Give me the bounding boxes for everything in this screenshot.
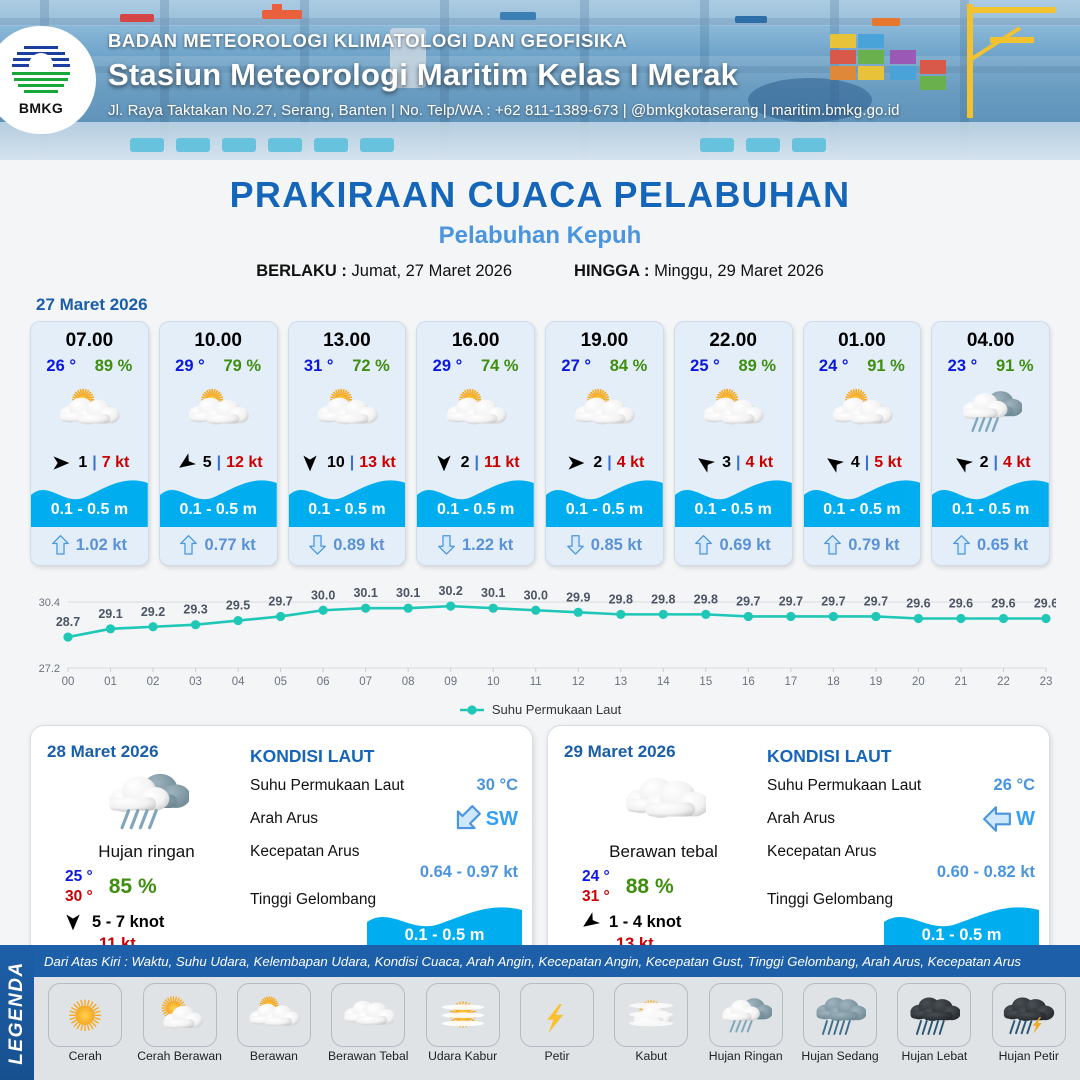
chart-x-tick: 12 — [572, 676, 585, 688]
daily-temps: 24 °31 °88 % — [582, 868, 763, 906]
daily-wind-range: 5 - 7 knot — [92, 913, 164, 932]
card-wind-degree: 1 — [78, 454, 87, 472]
card-wind-speed: 4 kt — [746, 454, 774, 472]
chart-data-point — [829, 612, 838, 621]
chart-data-label: 29.6 — [906, 597, 930, 611]
weather-icon-cerah-berawan — [154, 994, 206, 1037]
infographic-page: BMKG BADAN METEOROLOGI KLIMATOLOGI DAN G… — [0, 0, 1080, 1080]
chart-y-tick: 27.2 — [39, 663, 60, 675]
chart-data-point — [63, 632, 72, 641]
card-time: 07.00 — [31, 330, 148, 352]
card-current: 0.77 kt — [160, 529, 277, 561]
weather-icon-hujan-ringan — [105, 767, 189, 836]
chart-line — [68, 606, 1046, 637]
legend-side-tab: LEGENDA — [0, 945, 34, 1080]
station-name: Stasiun Meteorologi Maritim Kelas I Mera… — [108, 57, 900, 93]
daily-wave-height: 0.1 - 0.5 m — [884, 926, 1039, 945]
legend-item-label: Hujan Ringan — [709, 1050, 783, 1063]
card-time: 16.00 — [417, 330, 534, 352]
current-direction-value: W — [1016, 808, 1035, 831]
chart-x-tick: 18 — [827, 676, 840, 688]
legend-item: Berawan — [229, 983, 319, 1080]
daily-condition: Berawan tebal — [564, 842, 763, 862]
chart-x-tick: 02 — [147, 676, 160, 688]
card-wind-separator: | — [217, 454, 221, 472]
chart-x-tick: 07 — [359, 676, 372, 688]
card-wave: 0.1 - 0.5 m — [546, 473, 663, 527]
card-wind-separator: | — [865, 454, 869, 472]
card-wind-separator: | — [736, 454, 740, 472]
card-wind-speed: 13 kt — [359, 454, 395, 472]
hourly-card: 19.0027 °84 %2|4 kt0.1 - 0.5 m0.85 kt — [545, 321, 664, 566]
current-direction-arrow-icon — [180, 535, 197, 555]
card-wind-separator: | — [475, 454, 479, 472]
legend-item-label: Hujan Sedang — [801, 1050, 878, 1063]
chart-data-label: 29.1 — [98, 607, 122, 621]
chart-data-label: 28.7 — [56, 615, 80, 629]
valid-from: BERLAKU : Jumat, 27 Maret 2026 — [256, 262, 512, 281]
wind-direction-arrow-icon — [822, 453, 846, 473]
chart-data-label: 29.7 — [779, 594, 803, 608]
daily-forecast-panel: 28 Maret 2026Hujan ringan25 °30 °85 %5 -… — [30, 725, 533, 967]
legend-bar: LEGENDA Dari Atas Kiri : Waktu, Suhu Uda… — [0, 945, 1080, 1080]
legend-item: Hujan Lebat — [889, 983, 979, 1080]
legend-icon-box — [897, 983, 971, 1047]
chart-data-point — [404, 604, 413, 613]
valid-to: HINGGA : Minggu, 29 Maret 2026 — [574, 262, 824, 281]
card-wind-speed: 7 kt — [102, 454, 130, 472]
hourly-card: 04.0023 °91 %2|4 kt0.1 - 0.5 m0.65 kt — [931, 321, 1050, 566]
card-humidity: 74 % — [481, 357, 519, 376]
chart-data-point — [616, 610, 625, 619]
current-direction-arrow-icon — [953, 535, 970, 555]
card-current-speed: 0.85 kt — [591, 536, 642, 555]
chart-data-point — [701, 610, 710, 619]
weather-icon-berawan — [248, 994, 300, 1037]
current-direction-arrow-icon — [982, 804, 1012, 834]
title-section: PRAKIRAAN CUACA PELABUHAN Pelabuhan Kepu… — [0, 160, 1080, 281]
chart-data-label: 30.1 — [481, 586, 505, 600]
chart-data-label: 29.6 — [991, 597, 1015, 611]
card-humidity: 79 % — [223, 357, 261, 376]
legend-icon-box — [520, 983, 594, 1047]
daily-humidity: 85 % — [109, 875, 157, 899]
card-time: 04.00 — [932, 330, 1049, 352]
card-values: 29 °74 % — [417, 357, 534, 376]
valid-from-value: Jumat, 27 Maret 2026 — [352, 262, 513, 280]
legend-item: Hujan Ringan — [701, 983, 791, 1080]
legend-icon-box — [237, 983, 311, 1047]
card-time: 13.00 — [289, 330, 406, 352]
current-direction-value-wrap: SW — [452, 804, 518, 834]
weather-icon-kabut — [625, 994, 677, 1037]
legend-item-label: Hujan Petir — [999, 1050, 1059, 1063]
daily-forecast-panel: 29 Maret 2026Berawan tebal24 °31 °88 %1 … — [547, 725, 1050, 967]
legend-item-label: Hujan Lebat — [902, 1050, 968, 1063]
chart-data-point — [574, 608, 583, 617]
card-wave-height: 0.1 - 0.5 m — [31, 501, 148, 519]
wind-direction-arrow-icon — [432, 453, 456, 473]
weather-icon-petir — [531, 994, 583, 1037]
current-speed-row: Kecepatan Arus — [246, 843, 518, 861]
chart-data-point — [106, 624, 115, 633]
chart-data-point — [914, 614, 923, 623]
card-values: 31 °72 % — [289, 357, 406, 376]
card-values: 29 °79 % — [160, 357, 277, 376]
chart-legend: Suhu Permukaan Laut — [0, 702, 1080, 717]
card-wave-height: 0.1 - 0.5 m — [932, 501, 1049, 519]
daily-forecast-panels: 28 Maret 2026Hujan ringan25 °30 °85 %5 -… — [0, 717, 1080, 967]
card-wind-degree: 2 — [593, 454, 602, 472]
hourly-card: 22.0025 °89 %3|4 kt0.1 - 0.5 m0.69 kt — [674, 321, 793, 566]
chart-data-point — [148, 622, 157, 631]
legend-icon-box — [331, 983, 405, 1047]
chart-data-point — [446, 602, 455, 611]
current-speed-row: Kecepatan Arus — [763, 843, 1035, 861]
chart-x-tick: 10 — [487, 676, 500, 688]
card-current-speed: 0.89 kt — [333, 536, 384, 555]
card-wave-height: 0.1 - 0.5 m — [804, 501, 921, 519]
current-direction-arrow-icon — [52, 535, 69, 555]
chart-x-tick: 20 — [912, 676, 925, 688]
card-current-speed: 0.69 kt — [719, 536, 770, 555]
hourly-card: 13.0031 °72 %10|13 kt0.1 - 0.5 m0.89 kt — [288, 321, 407, 566]
daily-panel-right: KONDISI LAUTSuhu Permukaan Laut30 °CArah… — [246, 726, 532, 966]
card-wave-height: 0.1 - 0.5 m — [289, 501, 406, 519]
wind-direction-arrow-icon — [174, 453, 198, 473]
chart-data-label: 29.3 — [183, 603, 207, 617]
current-direction-label: Arah Arus — [250, 810, 318, 828]
daily-wave-height: 0.1 - 0.5 m — [367, 926, 522, 945]
card-current-speed: 1.02 kt — [76, 536, 127, 555]
chart-data-point — [531, 606, 540, 615]
current-direction-row: Arah ArusSW — [246, 804, 518, 834]
current-direction-arrow-icon — [824, 535, 841, 555]
legend-item-label: Berawan — [250, 1050, 298, 1063]
legend-icon-box — [143, 983, 217, 1047]
daily-temps: 25 °30 °85 % — [65, 868, 246, 906]
chart-data-label: 29.9 — [566, 590, 590, 604]
chart-x-tick: 04 — [232, 676, 245, 688]
weather-icon-hujan-ringan — [960, 386, 1022, 437]
wind-direction-arrow-icon — [61, 912, 85, 932]
current-direction-arrow-icon — [567, 535, 584, 555]
legend-icon-box — [48, 983, 122, 1047]
bmkg-logo-mark — [12, 44, 70, 98]
wind-direction-arrow-icon — [49, 453, 73, 473]
hourly-card: 10.0029 °79 %5|12 kt0.1 - 0.5 m0.77 kt — [159, 321, 278, 566]
hourly-card: 16.0029 °74 %2|11 kt0.1 - 0.5 m1.22 kt — [416, 321, 535, 566]
sst-row: Suhu Permukaan Laut30 °C — [246, 776, 518, 795]
chart-data-label: 30.0 — [524, 588, 548, 602]
card-current: 0.79 kt — [804, 529, 921, 561]
wind-direction-arrow-icon — [693, 453, 717, 473]
card-time: 22.00 — [675, 330, 792, 352]
current-direction-arrow-icon — [695, 535, 712, 555]
weather-icon-berawan — [187, 386, 249, 437]
current-speed-label: Kecepatan Arus — [250, 843, 359, 861]
chart-data-point — [956, 614, 965, 623]
weather-icon-hujan-ringan — [720, 994, 772, 1037]
card-temperature: 29 ° — [433, 357, 463, 376]
card-current: 1.02 kt — [31, 529, 148, 561]
card-wave: 0.1 - 0.5 m — [417, 473, 534, 527]
chart-data-label: 29.7 — [864, 594, 888, 608]
agency-name: BADAN METEOROLOGI KLIMATOLOGI DAN GEOFIS… — [108, 30, 900, 52]
card-wind-separator: | — [994, 454, 998, 472]
chart-data-label: 30.1 — [396, 586, 420, 600]
hourly-date-label: 27 Maret 2026 — [36, 295, 1080, 315]
legend-item-label: Cerah Berawan — [137, 1050, 222, 1063]
card-wind-separator: | — [350, 454, 354, 472]
hourly-card: 07.0026 °89 %1|7 kt0.1 - 0.5 m1.02 kt — [30, 321, 149, 566]
card-weather-icon — [289, 380, 406, 442]
chart-x-tick: 16 — [742, 676, 755, 688]
chart-data-label: 29.7 — [268, 594, 292, 608]
chart-data-label: 29.8 — [609, 592, 633, 606]
legend-item-label: Petir — [544, 1050, 569, 1063]
sst-value: 26 °C — [994, 776, 1035, 795]
daily-humidity: 88 % — [626, 875, 674, 899]
legend-item: Cerah Berawan — [134, 983, 224, 1080]
chart-x-tick: 15 — [699, 676, 712, 688]
card-time: 01.00 — [804, 330, 921, 352]
card-values: 24 °91 % — [804, 357, 921, 376]
card-current-speed: 0.65 kt — [977, 536, 1028, 555]
card-humidity: 72 % — [352, 357, 390, 376]
card-temperature: 27 ° — [561, 357, 591, 376]
sst-label: Suhu Permukaan Laut — [767, 777, 921, 795]
daily-panel-left: 29 Maret 2026Berawan tebal24 °31 °88 %1 … — [548, 726, 763, 966]
weather-icon-berawan — [445, 386, 507, 437]
card-wave: 0.1 - 0.5 m — [31, 473, 148, 527]
card-time: 10.00 — [160, 330, 277, 352]
current-direction-arrow-icon — [438, 535, 455, 555]
card-wind-degree: 10 — [327, 454, 345, 472]
card-time: 19.00 — [546, 330, 663, 352]
card-current-speed: 0.79 kt — [848, 536, 899, 555]
card-wave-height: 0.1 - 0.5 m — [546, 501, 663, 519]
current-speed-value: 0.64 - 0.97 kt — [246, 863, 518, 882]
page-header: BMKG BADAN METEOROLOGI KLIMATOLOGI DAN G… — [0, 0, 1080, 160]
card-wind-speed: 5 kt — [874, 454, 902, 472]
validity-row: BERLAKU : Jumat, 27 Maret 2026 HINGGA : … — [0, 262, 1080, 281]
legend-item: Cerah — [40, 983, 130, 1080]
weather-icon-berawan — [573, 386, 635, 437]
daily-panel-left: 28 Maret 2026Hujan ringan25 °30 °85 %5 -… — [31, 726, 246, 966]
card-temperature: 24 ° — [819, 357, 849, 376]
legend-note: Dari Atas Kiri : Waktu, Suhu Udara, Kele… — [34, 945, 1080, 977]
card-wave-height: 0.1 - 0.5 m — [675, 501, 792, 519]
card-current: 0.89 kt — [289, 529, 406, 561]
weather-icon-berawan-tebal — [622, 767, 706, 836]
card-humidity: 89 % — [95, 357, 133, 376]
weather-icon-berawan — [831, 386, 893, 437]
card-weather-icon — [160, 380, 277, 442]
legend-icon-list: CerahCerah BerawanBerawanBerawan TebalUd… — [34, 979, 1080, 1080]
legend-item-label: Kabut — [635, 1050, 667, 1063]
card-temperature: 25 ° — [690, 357, 720, 376]
sst-label: Suhu Permukaan Laut — [250, 777, 404, 795]
legend-icon-box — [803, 983, 877, 1047]
card-current-speed: 1.22 kt — [462, 536, 513, 555]
card-wind-degree: 4 — [851, 454, 860, 472]
contact-line: Jl. Raya Taktakan No.27, Serang, Banten … — [108, 102, 900, 119]
legend-item-label: Berawan Tebal — [328, 1050, 408, 1063]
daily-date: 29 Maret 2026 — [564, 742, 763, 762]
daily-panel-right: KONDISI LAUTSuhu Permukaan Laut26 °CArah… — [763, 726, 1049, 966]
legend-side-title: LEGENDA — [6, 961, 28, 1064]
legend-item: Hujan Petir — [984, 983, 1074, 1080]
weather-icon-cerah — [59, 994, 111, 1037]
chart-data-point — [191, 620, 200, 629]
legend-item: Udara Kabur — [417, 983, 507, 1080]
sea-condition-title: KONDISI LAUT — [250, 746, 518, 767]
weather-icon-udara-kabur — [437, 994, 489, 1037]
chart-data-label: 29.7 — [821, 594, 845, 608]
chart-legend-marker-icon — [459, 704, 485, 716]
chart-x-tick: 23 — [1040, 676, 1053, 688]
card-temperature: 26 ° — [46, 357, 76, 376]
legend-icon-box — [992, 983, 1066, 1047]
current-speed-label: Kecepatan Arus — [767, 843, 876, 861]
valid-to-value: Minggu, 29 Maret 2026 — [654, 262, 824, 280]
card-temperature: 23 ° — [948, 357, 978, 376]
legend-item-label: Udara Kabur — [428, 1050, 497, 1063]
card-current-speed: 0.77 kt — [204, 536, 255, 555]
page-subtitle: Pelabuhan Kepuh — [0, 222, 1080, 250]
chart-data-label: 29.2 — [141, 605, 165, 619]
card-temperature: 31 ° — [304, 357, 334, 376]
legend-icon-box — [426, 983, 500, 1047]
chart-data-label: 29.6 — [949, 597, 973, 611]
chart-x-tick: 05 — [274, 676, 287, 688]
sea-condition-title: KONDISI LAUT — [767, 746, 1035, 767]
card-weather-icon — [932, 380, 1049, 442]
card-wave: 0.1 - 0.5 m — [675, 473, 792, 527]
legend-icon-box — [709, 983, 783, 1047]
card-wave: 0.1 - 0.5 m — [289, 473, 406, 527]
chart-data-point — [276, 612, 285, 621]
current-speed-value: 0.60 - 0.82 kt — [763, 863, 1035, 882]
wave-height-label: Tinggi Gelombang — [250, 891, 376, 909]
chart-x-tick: 22 — [997, 676, 1010, 688]
weather-icon-hujan-petir — [1003, 994, 1055, 1037]
current-direction-value: SW — [486, 808, 518, 831]
legend-icon-box — [614, 983, 688, 1047]
chart-data-point — [871, 612, 880, 621]
card-current: 0.65 kt — [932, 529, 1049, 561]
card-wave-height: 0.1 - 0.5 m — [160, 501, 277, 519]
daily-wind: 1 - 4 knot — [578, 912, 763, 932]
weather-icon-berawan — [58, 386, 120, 437]
card-humidity: 91 % — [867, 357, 905, 376]
card-humidity: 84 % — [610, 357, 648, 376]
chart-data-label: 29.6 — [1034, 597, 1056, 611]
sst-chart-svg: 30.427.200010203040506070809101112131415… — [24, 580, 1056, 698]
card-values: 27 °84 % — [546, 357, 663, 376]
chart-data-label: 29.7 — [736, 594, 760, 608]
card-humidity: 91 % — [996, 357, 1034, 376]
chart-x-tick: 03 — [189, 676, 202, 688]
daily-wind: 5 - 7 knot — [61, 912, 246, 932]
wind-direction-arrow-icon — [578, 912, 602, 932]
chart-data-point — [999, 614, 1008, 623]
card-wind-degree: 2 — [980, 454, 989, 472]
chart-data-label: 30.1 — [353, 586, 377, 600]
card-values: 23 °91 % — [932, 357, 1049, 376]
weather-icon-berawan-tebal — [342, 994, 394, 1037]
legend-item: Petir — [512, 983, 602, 1080]
header-text-block: BADAN METEOROLOGI KLIMATOLOGI DAN GEOFIS… — [108, 30, 900, 119]
legend-item: Berawan Tebal — [323, 983, 413, 1080]
card-current: 0.85 kt — [546, 529, 663, 561]
card-weather-icon — [417, 380, 534, 442]
current-direction-arrow-icon — [309, 535, 326, 555]
card-weather-icon — [546, 380, 663, 442]
card-wave: 0.1 - 0.5 m — [804, 473, 921, 527]
chart-data-label: 29.8 — [651, 592, 675, 606]
daily-temp-max: 30 ° — [65, 888, 93, 906]
legend-item: Hujan Sedang — [795, 983, 885, 1080]
valid-to-label: HINGGA : — [574, 262, 649, 280]
chart-data-point — [233, 616, 242, 625]
daily-temp-max: 31 ° — [582, 888, 610, 906]
current-direction-row: Arah ArusW — [763, 804, 1035, 834]
chart-x-tick: 11 — [530, 676, 542, 688]
card-weather-icon — [31, 380, 148, 442]
page-title: PRAKIRAAN CUACA PELABUHAN — [0, 174, 1080, 216]
card-wave: 0.1 - 0.5 m — [160, 473, 277, 527]
legend-item-label: Cerah — [69, 1050, 102, 1063]
sst-value: 30 °C — [477, 776, 518, 795]
daily-temp-min: 25 ° — [65, 868, 93, 886]
chart-data-point — [786, 612, 795, 621]
weather-icon-hujan-lebat — [908, 994, 960, 1037]
hourly-forecast-cards: 07.0026 °89 %1|7 kt0.1 - 0.5 m1.02 kt10.… — [0, 321, 1080, 566]
card-wave-height: 0.1 - 0.5 m — [417, 501, 534, 519]
daily-weather-icon — [47, 764, 246, 838]
valid-from-label: BERLAKU : — [256, 262, 347, 280]
chart-data-point — [319, 606, 328, 615]
card-weather-icon — [675, 380, 792, 442]
card-wind-degree: 3 — [722, 454, 731, 472]
chart-data-point — [744, 612, 753, 621]
weather-icon-hujan-sedang — [814, 994, 866, 1037]
current-direction-arrow-icon — [452, 804, 482, 834]
wind-direction-arrow-icon — [564, 453, 588, 473]
card-weather-icon — [804, 380, 921, 442]
chart-y-tick: 30.4 — [39, 597, 60, 609]
card-wind-speed: 4 kt — [617, 454, 645, 472]
chart-data-label: 30.0 — [311, 588, 335, 602]
card-values: 25 °89 % — [675, 357, 792, 376]
card-wind-speed: 4 kt — [1003, 454, 1031, 472]
card-wind-degree: 5 — [203, 454, 212, 472]
chart-x-tick: 08 — [402, 676, 415, 688]
card-wind-speed: 12 kt — [226, 454, 262, 472]
card-current: 0.69 kt — [675, 529, 792, 561]
current-direction-value-wrap: W — [982, 804, 1035, 834]
card-temperature: 29 ° — [175, 357, 205, 376]
chart-data-label: 29.5 — [226, 599, 250, 613]
chart-x-tick: 19 — [870, 676, 883, 688]
chart-x-tick: 06 — [317, 676, 330, 688]
card-wind-separator: | — [92, 454, 96, 472]
wave-height-label: Tinggi Gelombang — [767, 891, 893, 909]
chart-x-tick: 01 — [104, 676, 117, 688]
chart-legend-label: Suhu Permukaan Laut — [492, 702, 621, 717]
